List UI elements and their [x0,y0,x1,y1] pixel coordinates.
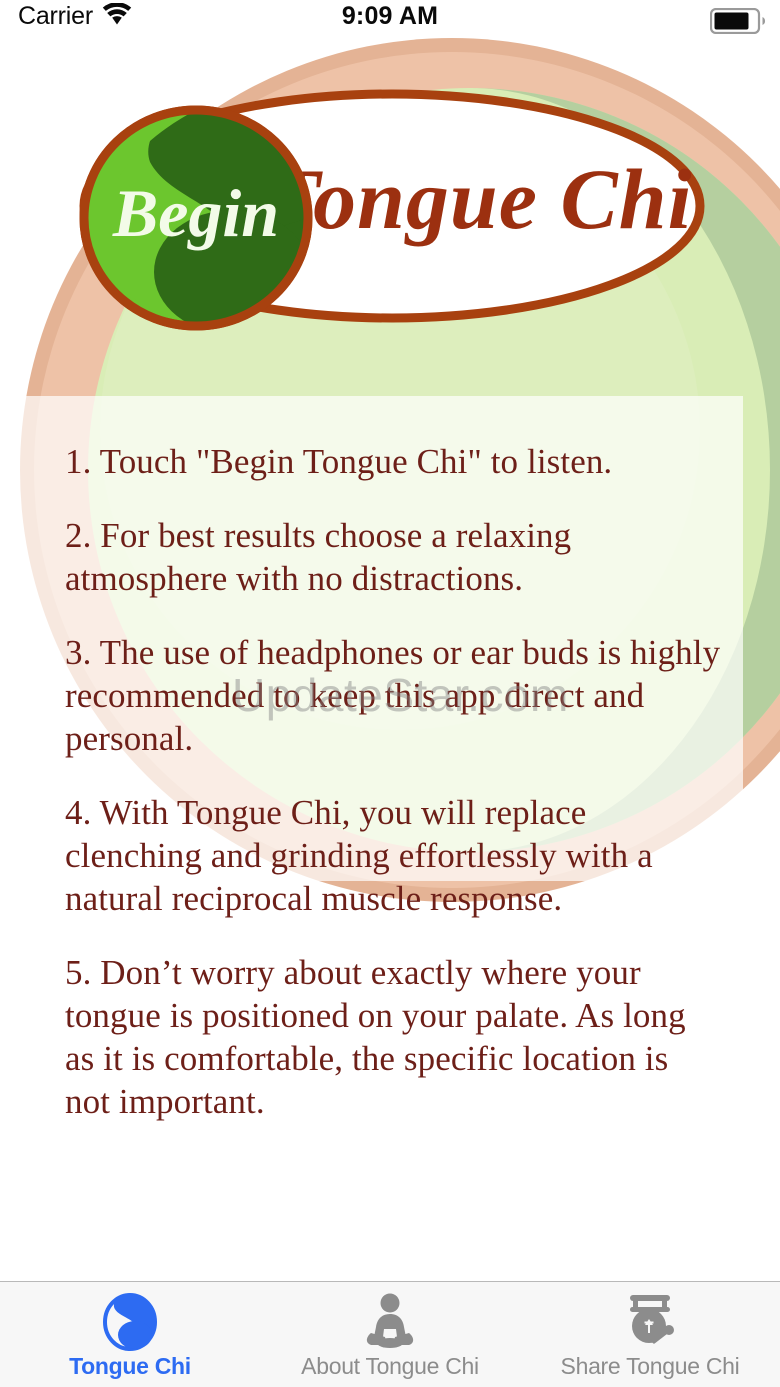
logo-badge-text: Begin [112,175,279,251]
instruction-step-2: 2. For best results choose a relaxing at… [65,514,722,600]
instructions-scroll-area[interactable]: 1. Touch "Begin Tongue Chi" to listen. 2… [0,440,780,1281]
tab-about-tongue-chi[interactable]: About Tongue Chi [260,1282,520,1387]
app-logo: Tongue Chi Begin [0,0,780,400]
tab-label-share-tongue-chi: Share Tongue Chi [561,1353,740,1380]
logo-title: Tongue Chi [267,151,692,247]
tab-tongue-chi[interactable]: Tongue Chi [0,1282,260,1387]
logo-svg: Tongue Chi Begin [0,0,780,400]
tab-label-tongue-chi: Tongue Chi [69,1353,191,1380]
yin-yang-icon [102,1293,158,1351]
app-screen: Tongue Chi Begin UpdateStar.com 1. Touch… [0,0,780,1387]
meditation-icon [359,1293,421,1351]
instruction-step-1: 1. Touch "Begin Tongue Chi" to listen. [65,440,722,483]
tab-share-tongue-chi[interactable]: Share Tongue Chi [520,1282,780,1387]
instruction-step-3: 3. The use of headphones or ear buds is … [65,631,722,760]
gong-icon [620,1293,680,1351]
instruction-step-5: 5. Don’t worry about exactly where your … [65,951,722,1123]
tab-bar: Tongue Chi About Tongue Chi [0,1281,780,1387]
instruction-step-4: 4. With Tongue Chi, you will replace cle… [65,791,722,920]
tab-label-about-tongue-chi: About Tongue Chi [301,1353,479,1380]
